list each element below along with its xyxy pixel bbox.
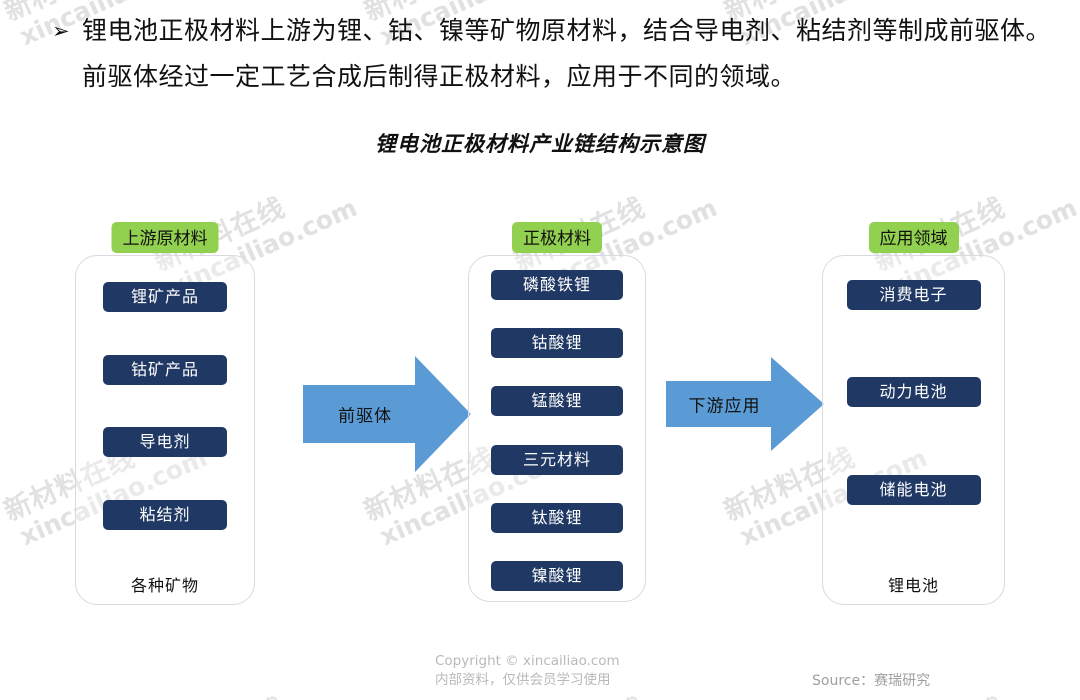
item-box[interactable]: 动力电池 xyxy=(847,377,981,407)
arrow-precursor: 前驱体 xyxy=(303,356,471,472)
stage-footer-apps: 锂电池 xyxy=(888,572,939,596)
arrow-label-precursor: 前驱体 xyxy=(303,402,427,427)
item-box[interactable]: 钴酸锂 xyxy=(491,328,623,358)
bullet-paragraph-text: 锂电池正极材料上游为锂、钴、镍等矿物原材料，结合导电剂、粘结剂等制成前驱体。前驱… xyxy=(82,8,1052,100)
item-box[interactable]: 钛酸锂 xyxy=(491,503,623,533)
item-box[interactable]: 导电剂 xyxy=(103,427,227,457)
copyright-block: Copyright © xincailiao.com 内部资料，仅供会员学习使用 xyxy=(435,652,620,690)
item-box[interactable]: 磷酸铁锂 xyxy=(491,270,623,300)
stage-panel-upstream: 锂矿产品 钴矿产品 导电剂 粘结剂 各种矿物 xyxy=(75,255,255,605)
stage-upstream: 上游原材料 锂矿产品 钴矿产品 导电剂 粘结剂 各种矿物 xyxy=(75,222,255,605)
item-box[interactable]: 镍酸锂 xyxy=(491,561,623,591)
bullet-arrow-icon: ➢ xyxy=(52,8,82,54)
stage-panel-apps: 消费电子 动力电池 储能电池 锂电池 xyxy=(822,255,1005,605)
chart-title: 锂电池正极材料产业链结构示意图 xyxy=(0,128,1080,158)
item-box[interactable]: 钴矿产品 xyxy=(103,355,227,385)
supply-chain-diagram: 上游原材料 锂矿产品 钴矿产品 导电剂 粘结剂 各种矿物 前驱体 正极材料 磷酸… xyxy=(0,0,1080,700)
item-box[interactable]: 锰酸锂 xyxy=(491,386,623,416)
copyright-line-2: 内部资料，仅供会员学习使用 xyxy=(435,671,620,690)
stage-badge-upstream: 上游原材料 xyxy=(112,222,219,253)
item-box[interactable]: 三元材料 xyxy=(491,445,623,475)
item-box[interactable]: 储能电池 xyxy=(847,475,981,505)
stage-badge-cathode: 正极材料 xyxy=(512,222,602,253)
stage-badge-apps: 应用领域 xyxy=(869,222,959,253)
stage-footer-upstream: 各种矿物 xyxy=(131,572,199,596)
copyright-line-1: Copyright © xincailiao.com xyxy=(435,652,620,671)
item-box[interactable]: 粘结剂 xyxy=(103,500,227,530)
stage-panel-cathode: 磷酸铁锂 钴酸锂 锰酸锂 三元材料 钛酸锂 镍酸锂 xyxy=(468,255,646,602)
item-box[interactable]: 锂矿产品 xyxy=(103,282,227,312)
arrow-label-downstream: 下游应用 xyxy=(666,392,783,417)
stage-cathode: 正极材料 磷酸铁锂 钴酸锂 锰酸锂 三元材料 钛酸锂 镍酸锂 xyxy=(468,222,646,602)
source-label: Source：赛瑞研究 xyxy=(812,670,930,690)
bullet-paragraph: ➢ 锂电池正极材料上游为锂、钴、镍等矿物原材料，结合导电剂、粘结剂等制成前驱体。… xyxy=(52,8,1052,100)
arrow-downstream: 下游应用 xyxy=(666,357,824,451)
item-box[interactable]: 消费电子 xyxy=(847,280,981,310)
stage-apps: 应用领域 消费电子 动力电池 储能电池 锂电池 xyxy=(822,222,1005,605)
page-footer: Copyright © xincailiao.com 内部资料，仅供会员学习使用… xyxy=(0,652,1080,700)
